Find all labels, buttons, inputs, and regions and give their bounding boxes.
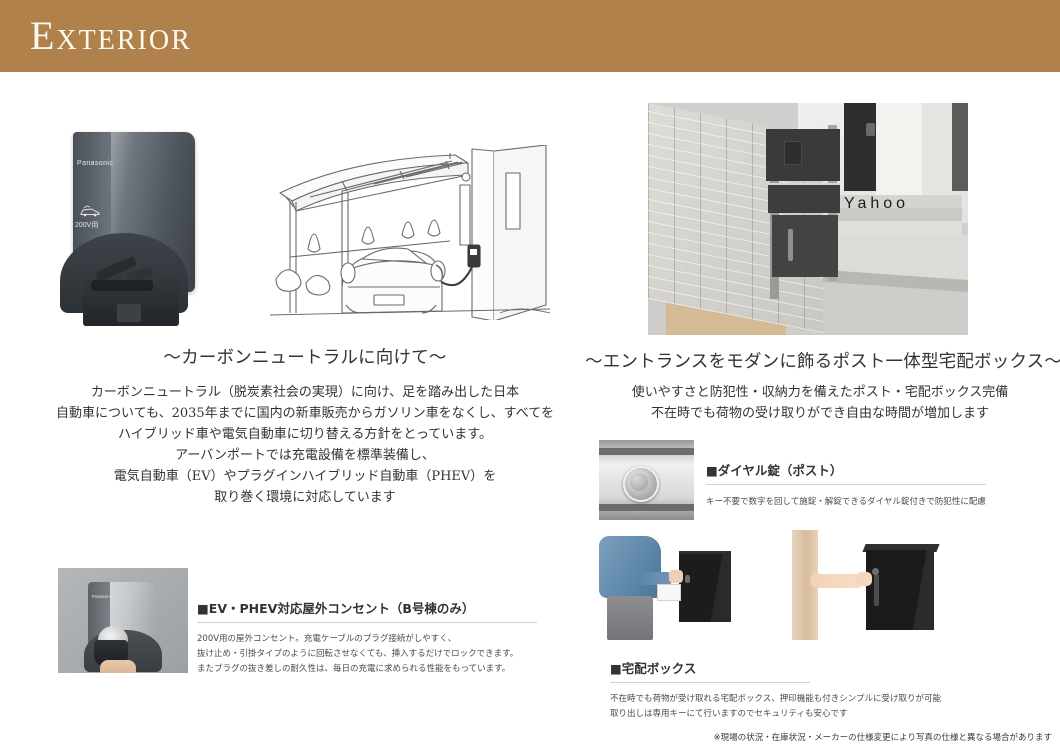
left-body-line-4: アーバンポートでは充電設備を標準装備し、 xyxy=(20,445,590,466)
person-hand xyxy=(669,570,683,583)
delivery-box-usage-photo-right xyxy=(790,530,970,640)
dial-section-divider xyxy=(706,484,986,485)
mailbox-middle-tray xyxy=(768,183,840,213)
dial-body-line-1: キー不要で数字を回して施錠・解錠できるダイヤル錠付きで防犯性に配慮 xyxy=(706,495,986,510)
page-title: Exterior xyxy=(30,11,192,61)
hand-holding-plug xyxy=(100,660,136,673)
left-body-line-3: ハイブリッド車や電気自動車に切り替える方針をとっています。 xyxy=(20,424,590,445)
left-body-line-5: 電気自動車（EV）やプラグインハイブリッド自動車（PHEV）を xyxy=(20,466,590,487)
delivery-box-usage-photo-left xyxy=(599,530,785,640)
mailbox-house-wall-b xyxy=(922,103,952,203)
delivery-box-body xyxy=(679,554,731,622)
person-hand xyxy=(856,572,872,586)
delivery-box-lower-unit xyxy=(772,215,838,277)
right-column-heading: 〜エントランスをモダンに飾るポスト一体型宅配ボックス〜 xyxy=(585,348,1055,373)
carport-illustration xyxy=(250,145,550,320)
right-body-line-1: 使いやすさと防犯性・収納力を備えたポスト・宅配ボックス完備 xyxy=(585,382,1055,403)
outlet-body-line-2: 抜け止め・引掛タイプのように回転させなくても、挿入するだけでロックできます。 xyxy=(197,647,537,662)
delivery-body-line-2: 取り出しは専用キーにて行いますのでセキュリティも安心です xyxy=(610,707,1040,722)
delivery-box-handle xyxy=(788,229,793,261)
right-body-line-2: 不在時でも荷物の受け取りができ自由な時間が増加します xyxy=(585,403,1055,424)
page-header-banner: Exterior xyxy=(0,0,1060,72)
delivery-section-divider xyxy=(610,682,810,683)
left-column-heading: 〜カーボンニュートラルに向けて〜 xyxy=(40,344,570,369)
dial-lock-trim-bottom xyxy=(599,504,694,511)
charger-port xyxy=(117,304,141,322)
delivery-body-line-1: 不在時でも荷物が受け取れる宅配ボックス、押印機能も付きシンプルに受け取りが可能 xyxy=(610,692,1040,707)
outlet-body-line-3: またプラグの抜き差しの耐久性は、毎日の充電に求められる性能をもっています。 xyxy=(197,662,537,677)
ev-charger-product-image: Panasonic 200V用 xyxy=(55,128,230,328)
mailbox-house-wall-c xyxy=(952,103,968,191)
dial-lock-knob xyxy=(630,473,648,491)
delivery-box-handle xyxy=(874,574,879,606)
ev-car-icon xyxy=(79,204,101,216)
entry-lamp-icon xyxy=(866,123,875,136)
charger-brand-label: Panasonic xyxy=(77,160,113,167)
person-legs xyxy=(607,596,653,640)
dial-lock-photo xyxy=(599,440,694,520)
left-body-line-2: 自動車についても、2035年までに国内の新車販売からガソリン車をなくし、すべてを xyxy=(20,403,590,424)
mailbox-step-3 xyxy=(828,221,962,235)
photo-watermark: Yahoo xyxy=(844,195,909,213)
outlet-body-line-1: 200V用の屋外コンセント。充電ケーブルのプラグ接続がしやすく、 xyxy=(197,632,537,647)
outdoor-outlet-photo: Panasonic xyxy=(58,568,188,673)
delivery-box-lock-knob xyxy=(872,568,879,575)
charger-plug-bar xyxy=(91,280,153,291)
dial-lock-icon xyxy=(623,466,659,502)
outlet-brand-label: Panasonic xyxy=(92,594,113,599)
delivery-section-heading: ■宅配ボックス xyxy=(610,658,1040,677)
mailbox-upper-unit xyxy=(766,129,840,181)
delivery-box-lock-knob xyxy=(685,575,690,583)
mailbox-mail-slot xyxy=(784,141,802,165)
disclaimer-footnote: ※現場の状況・在庫状況・メーカーの仕様変更により写真の仕様と異なる場合があります xyxy=(714,731,1052,743)
outlet-section-heading: ■EV・PHEV対応屋外コンセント（B号棟のみ） xyxy=(197,598,537,617)
dial-section-heading: ■ダイヤル錠（ポスト） xyxy=(706,460,986,479)
delivery-slip-card xyxy=(657,584,681,601)
dial-lock-trim-top xyxy=(599,448,694,455)
mailbox-post-photo: Yahoo xyxy=(648,103,968,335)
mailbox-entry-door xyxy=(844,103,878,191)
left-body-line-1: カーボンニュートラル（脱炭素社会の実現）に向け、足を踏み出した日本 xyxy=(20,382,590,403)
outlet-section-divider xyxy=(197,622,537,623)
person-torso xyxy=(599,536,661,598)
left-body-line-6: 取り巻く環境に対応しています xyxy=(20,487,590,508)
charger-voltage-label: 200V用 xyxy=(75,220,98,230)
mailbox-house-wall-a xyxy=(876,103,922,195)
